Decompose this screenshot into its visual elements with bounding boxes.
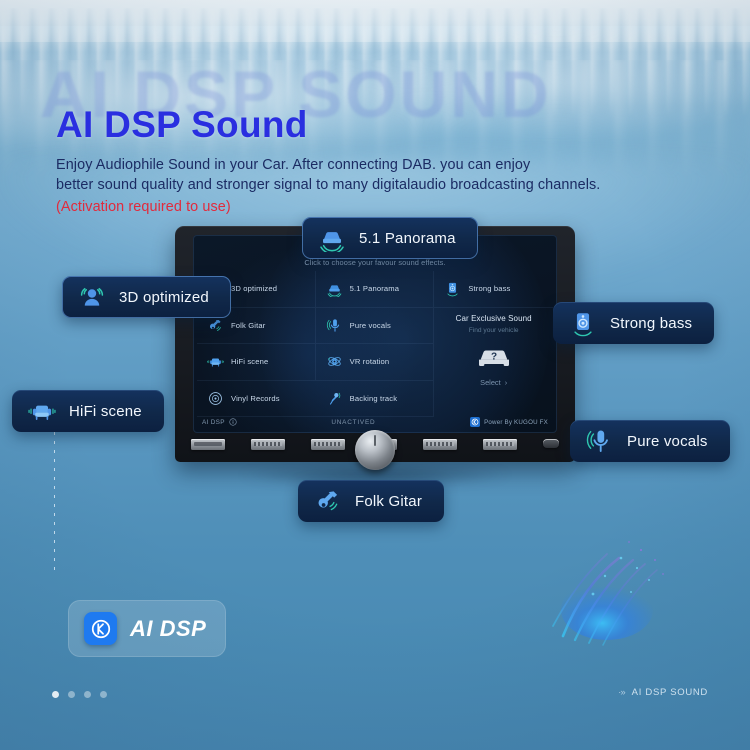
usb-port (191, 439, 225, 450)
carousel-pagination-dots[interactable] (52, 691, 107, 698)
effect-label: Backing track (350, 394, 398, 403)
car-panel-select-button[interactable]: Select › (480, 378, 507, 387)
car-surround-icon (326, 280, 343, 297)
kugou-badge-icon (470, 417, 480, 427)
callout-label: Strong bass (610, 315, 692, 332)
car-question-icon: ? (474, 342, 514, 369)
screen-subtitle: Click to choose your favour sound effect… (193, 258, 557, 267)
connector-port-2 (311, 439, 345, 450)
device-screen[interactable]: AI DSP Click to choose your favour sound… (193, 235, 557, 433)
orbit-icon (326, 353, 343, 370)
screen-status-bar: AI DSP UNACTIVED (193, 415, 557, 429)
chevron-right-icon: › (505, 378, 507, 387)
page-root: AI DSP SOUND AI DSP Sound Enjoy Audiophi… (0, 0, 750, 750)
callout-label: Folk Gitar (355, 493, 422, 510)
kugou-k-icon (84, 612, 117, 645)
pagination-dot[interactable] (84, 691, 91, 698)
connector-port-4 (423, 439, 457, 450)
effect-label: HiFi scene (231, 357, 268, 366)
effect-item-vinyl-records[interactable]: Vinyl Records (197, 381, 316, 418)
callout-label: 5.1 Panorama (359, 230, 456, 247)
pagination-dot[interactable] (100, 691, 107, 698)
device-body: AI DSP Click to choose your favour sound… (175, 226, 575, 462)
effect-label: Folk Gitar (231, 321, 265, 330)
armchair-icon (207, 353, 224, 370)
person-headphones-icon (78, 283, 106, 311)
effect-item-hifi-scene[interactable]: HiFi scene (197, 344, 316, 381)
micro-usb-port (543, 439, 559, 448)
effect-item-strong-bass[interactable]: Strong bass (434, 271, 553, 308)
callout-51-panorama[interactable]: 5.1 Panorama (302, 217, 478, 259)
chevrons-right-icon: ·›› (618, 687, 625, 698)
activation-status-badge: UNACTIVED (331, 419, 375, 426)
subwoofer-icon (569, 309, 597, 337)
device-bezel-ports (181, 436, 569, 460)
page-title: AI DSP Sound (56, 104, 308, 146)
pagination-dot[interactable] (68, 691, 75, 698)
effect-label: Pure vocals (350, 321, 391, 330)
effect-label: 3D optimized (231, 284, 277, 293)
hero-description-line-1: Enjoy Audiophile Sound in your Car. Afte… (56, 157, 530, 173)
effect-item-51-panorama[interactable]: 5.1 Panorama (316, 271, 435, 308)
subwoofer-icon (444, 280, 461, 297)
effect-item-vr-rotation[interactable]: VR rotation (316, 344, 435, 381)
activation-note: (Activation required to use) (56, 199, 231, 215)
microphone-icon (326, 317, 343, 334)
callout-label: Pure vocals (627, 433, 708, 450)
connector-port-1 (251, 439, 285, 450)
car-select-label: Select (480, 378, 501, 387)
status-bar-right: Power By KUGOU FX (470, 417, 548, 427)
volume-knob[interactable] (355, 430, 395, 470)
microphone-icon (586, 427, 614, 455)
car-surround-icon (318, 224, 346, 252)
mic-track-icon (326, 390, 343, 407)
callout-folk-gitar[interactable]: Folk Gitar (298, 480, 444, 522)
sound-effects-grid: 3D optimized 5.1 Panorama (197, 271, 553, 417)
status-bar-left[interactable]: AI DSP (202, 418, 237, 426)
svg-text:?: ? (491, 351, 497, 362)
effect-label: 5.1 Panorama (350, 284, 400, 293)
effect-label: VR rotation (350, 357, 390, 366)
callout-label: 3D optimized (119, 289, 209, 306)
effect-label: Strong bass (468, 284, 510, 293)
callout-pure-vocals[interactable]: Pure vocals (570, 420, 730, 462)
effect-label: Vinyl Records (231, 394, 280, 403)
vinyl-disc-icon (207, 390, 224, 407)
logo-badge-label: AI DSP (130, 616, 206, 642)
footer-label: AI DSP SOUND (632, 687, 708, 698)
particle-swirl-decoration (545, 498, 705, 648)
callout-hifi-scene[interactable]: HiFi scene (12, 390, 164, 432)
pagination-dot[interactable] (52, 691, 59, 698)
car-head-unit-device: AI DSP Click to choose your favour sound… (175, 226, 575, 476)
callout-strong-bass[interactable]: Strong bass (553, 302, 714, 344)
guitar-icon (314, 487, 342, 515)
callout-connector-line (54, 432, 55, 572)
ai-dsp-logo-badge: AI DSP (68, 600, 226, 657)
hero-description-line-2: better sound quality and stronger signal… (56, 177, 600, 193)
powered-by-label: Power By KUGOU FX (484, 419, 548, 426)
car-panel-subtitle: Find your vehicle (469, 327, 519, 334)
status-bar-left-label: AI DSP (202, 419, 225, 426)
callout-3d-optimized[interactable]: 3D optimized (62, 276, 231, 318)
armchair-icon (28, 397, 56, 425)
connector-port-5 (483, 439, 517, 450)
callout-label: HiFi scene (69, 403, 142, 420)
footer-label-group: ·›› AI DSP SOUND (618, 687, 708, 698)
car-exclusive-sound-panel[interactable]: Car Exclusive Sound Find your vehicle ? … (434, 308, 553, 418)
car-panel-title: Car Exclusive Sound (456, 314, 532, 323)
guitar-icon (207, 317, 224, 334)
info-icon[interactable] (229, 418, 237, 426)
effect-item-backing-track[interactable]: Backing track (316, 381, 435, 418)
effect-item-pure-vocals[interactable]: Pure vocals (316, 308, 435, 345)
